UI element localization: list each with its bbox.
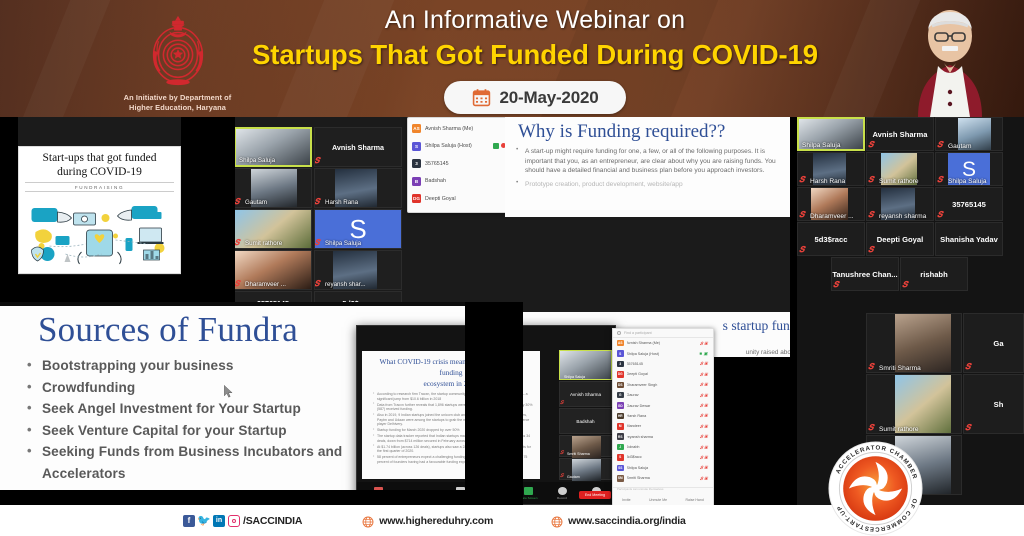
participant-name: Shilpa Saluja (Host) xyxy=(627,352,697,356)
mute-icon: 𝑺 xyxy=(560,400,563,406)
participant-name: Mandeer xyxy=(627,424,697,428)
record-icon xyxy=(558,487,567,495)
linkedin-icon[interactable]: in xyxy=(213,515,225,527)
screen-edge-filler xyxy=(0,275,234,302)
participant-name: 35765145 xyxy=(627,362,697,366)
gallery-tile-tanushree[interactable]: Tanushree Chan... 𝑺 xyxy=(831,257,899,291)
thumb-tile-label: Dharamveer ... xyxy=(245,281,286,288)
gallery-tile-label: Deepti Goyal xyxy=(877,235,923,244)
mute-icon: 𝑺 xyxy=(937,140,942,150)
participant-name: Avnish Sharma (Me) xyxy=(627,341,697,345)
inner-participant-row[interactable]: DG Deepti Goyal 𝑺▣ xyxy=(613,369,713,379)
participant-name: Badshah xyxy=(425,178,506,184)
inner-tile-gautam[interactable]: Gautam 𝑺 xyxy=(559,458,612,480)
gallery-tile-harsh-rana[interactable]: Harsh Rana 𝑺 xyxy=(797,152,865,186)
gallery-tile-dharamveer[interactable]: Dharamveer ... 𝑺 xyxy=(797,187,865,221)
gallery-tile-label: Sh xyxy=(994,400,1004,409)
header-title-block: An Informative Webinar on Startups That … xyxy=(250,6,820,114)
screen-edge-filler xyxy=(465,302,523,505)
gallery-tile-shilpa-2[interactable]: Sh 𝑺 xyxy=(963,374,1024,434)
haryana-emblem-block: An Initiative by Department of Higher Ed… xyxy=(105,12,250,112)
gallery-tile-label: Smriti Sharma xyxy=(879,365,921,372)
thumb-tile-label: Shilpa Saluja xyxy=(325,240,361,247)
avatar: S xyxy=(617,454,624,461)
gallery-tile-label: Sumit rathore xyxy=(879,426,919,433)
mute-icon: 𝑺 xyxy=(868,140,873,150)
webinar-subtitle: An Informative Webinar on xyxy=(250,6,820,35)
mute-icon: 𝑺 xyxy=(314,238,319,248)
inner-participants-panel[interactable]: Find a participant AS Avnish Sharma (Me)… xyxy=(612,328,714,505)
thumb-tile-label: Gautam xyxy=(245,199,267,206)
inner-panel-footer: Invite Unmute Me Raise Hand xyxy=(613,487,713,505)
avatar: SM xyxy=(617,475,624,482)
gallery-tile-label: rishabh xyxy=(920,270,947,279)
mute-icon: 𝑺 xyxy=(937,210,942,220)
avatar: GD xyxy=(617,402,624,409)
avatar: AS xyxy=(617,340,624,347)
raise-hand-button[interactable]: Raise Hand xyxy=(685,498,703,502)
website-url-2: www.saccindia.org/india xyxy=(568,515,686,527)
gallery-tile-5d3racc[interactable]: 5d3$racc 𝑺 xyxy=(797,222,865,256)
social-handle: /SACCINDIA xyxy=(243,515,302,527)
inner-tile-avnish-sharma[interactable]: Avnish Sharma 𝑺 xyxy=(559,381,612,407)
website-url-1: www.highereduhry.com xyxy=(379,515,493,527)
gallery-tile-label: Shanisha Yadav xyxy=(940,235,998,244)
gallery-tile-label: Sumit rathore xyxy=(879,178,919,185)
mute-icon: 𝑺 xyxy=(965,362,970,372)
thumb-tile-shilpa-saluja[interactable]: Shilpa Saluja xyxy=(234,127,312,167)
participant-name: Shilpa Saluja xyxy=(627,466,697,470)
slide-startups-subtitle: FUNDRAISING xyxy=(25,182,174,192)
mic-video-off-icons: 𝑺▣ xyxy=(700,455,709,460)
mouse-cursor-icon xyxy=(224,385,233,398)
inner-participant-row[interactable]: M Mandeer 𝑺▣ xyxy=(613,421,713,431)
avatar: G xyxy=(617,392,624,399)
globe-icon xyxy=(551,515,563,527)
mute-icon: 𝑺 xyxy=(833,280,838,290)
mute-icon: 𝑺 xyxy=(314,156,319,166)
participant-name: reyansh sharma xyxy=(627,435,697,439)
thumb-tile-dharamveer[interactable]: Dharamveer ... 𝑺 xyxy=(234,250,312,290)
gallery-tile-label: 35765145 xyxy=(952,200,986,209)
gallery-tile-gautam[interactable]: Gautam 𝑺 xyxy=(935,117,1003,151)
webinar-promo-screenshot: An Initiative by Department of Higher Ed… xyxy=(0,0,1024,536)
thumb-tile-reyansh-sharma[interactable]: reyansh shar... 𝑺 xyxy=(314,250,402,290)
haryana-government-emblem-icon xyxy=(139,12,217,90)
website-link-saccindia[interactable]: www.saccindia.org/india xyxy=(551,515,686,527)
slide-startups-funded: Start-ups that got funded during COVID-1… xyxy=(18,146,181,274)
thumb-tile-harsh-rana[interactable]: Harsh Rana 𝑺 xyxy=(314,168,402,208)
mic-video-off-icons: 𝑺▣ xyxy=(700,424,709,429)
thumb-tile-sumit-rathore[interactable]: Sumit rathore 𝑺 xyxy=(234,209,312,249)
avatar: DS xyxy=(617,382,624,389)
thumb-tile-label: Sumit rathore xyxy=(245,240,282,247)
inner-tile-shilpa-saluja[interactable]: Shilpa Saluja xyxy=(559,350,612,380)
mute-icon: 𝑺 xyxy=(314,279,319,289)
mute-icon: 𝑺 xyxy=(868,245,873,255)
gallery-tile-avnish-sharma[interactable]: Avnish Sharma 𝑺 xyxy=(866,117,934,151)
inner-participant-row[interactable]: S Shilpa Saluja (Host) ■▣ xyxy=(613,348,713,358)
gallery-tile-smriti-sharma[interactable]: Smriti Sharma 𝑺 xyxy=(866,313,962,373)
gallery-tile-label: Ga xyxy=(993,339,1003,348)
participants-popup[interactable]: AS Avnish Sharma (Me) S Shilpa Saluja (H… xyxy=(407,117,511,213)
instagram-icon[interactable] xyxy=(228,515,240,527)
mute-icon: 𝑺 xyxy=(314,197,319,207)
mute-icon: 𝑺 xyxy=(868,362,873,372)
invite-button[interactable]: Invite xyxy=(622,498,630,502)
participant-name: Deepti Goyal xyxy=(425,196,506,202)
inner-tile-label: Gautam xyxy=(567,475,580,479)
webinar-date-pill: 20-May-2020 xyxy=(444,81,626,114)
mute-icon: 𝑺 xyxy=(902,280,907,290)
inner-tile-label: Shilpa Saluja xyxy=(564,375,585,379)
mute-icon: 𝑺 xyxy=(937,175,942,185)
slide-why-title: Why is Funding required?? xyxy=(505,117,790,143)
calendar-icon xyxy=(472,88,491,107)
avatar: DG xyxy=(617,371,624,378)
mute-icon: 𝑺 xyxy=(868,210,873,220)
fundraising-illustration xyxy=(19,194,180,266)
mute-icon: 𝑺 xyxy=(799,175,804,185)
gallery-tile-35765145[interactable]: 35765145 𝑺 xyxy=(935,187,1003,221)
mic-video-off-icons: 𝑺▣ xyxy=(700,434,709,439)
minister-portrait xyxy=(894,0,1006,117)
gallery-tile-deepti-goyal[interactable]: Deepti Goyal 𝑺 xyxy=(866,222,934,256)
inner-toolbar-record[interactable]: Record xyxy=(545,487,579,500)
inner-tile-label: Smriti Sharma xyxy=(567,452,590,456)
inner-end-meeting-button[interactable]: End Meeting xyxy=(579,491,611,499)
webinar-title: Startups That Got Funded During COVID-19 xyxy=(250,39,820,71)
slide-why-body-faded: Prototype creation, product development,… xyxy=(505,176,790,190)
gallery-tile-label: Shilpa Saluja xyxy=(802,142,841,149)
inner-participant-row[interactable]: HR Harsh Rana 𝑺▣ xyxy=(613,411,713,421)
avatar: HR xyxy=(617,413,624,420)
inner-participant-row[interactable]: RS reyansh sharma 𝑺▣ xyxy=(613,432,713,442)
thumb-tile-shilpa-saluja-initial[interactable]: S Shilpa Saluja 𝑺 xyxy=(314,209,402,249)
inner-participant-rail: Shilpa Saluja Avnish Sharma 𝑺 Badshah Sm… xyxy=(559,350,612,480)
globe-icon xyxy=(362,515,374,527)
thumb-tile-label: Avnish Sharma xyxy=(332,143,384,152)
participant-row[interactable]: AS Avnish Sharma (Me) xyxy=(408,120,510,138)
screen-edge-filler xyxy=(714,357,797,505)
avatar: SS xyxy=(617,465,624,472)
search-placeholder: Find a participant xyxy=(624,331,652,335)
inner-tile-label: Avnish Sharma xyxy=(570,392,601,397)
mic-video-off-icons: 𝑺▣ xyxy=(700,403,709,408)
mic-video-off-icons: 𝑺▣ xyxy=(700,413,709,418)
social-links[interactable]: f 🐦 in /SACCINDIA xyxy=(183,515,302,527)
share-screen-indicator-icon xyxy=(493,143,499,149)
header-banner: An Initiative by Department of Higher Ed… xyxy=(0,0,1024,117)
avatar: M xyxy=(617,423,624,430)
participant-name: Deepti Goyal xyxy=(627,372,697,376)
screen-edge-filler xyxy=(790,117,797,505)
twitter-icon[interactable]: 🐦 xyxy=(198,515,210,527)
website-link-highereduhry[interactable]: www.highereduhry.com xyxy=(362,515,493,527)
gallery-tile-sumit-rathore-2[interactable]: Sumit rathore 𝑺 xyxy=(866,374,962,434)
mic-video-off-icons: 𝑺▣ xyxy=(700,476,709,481)
participant-row[interactable]: 3 35765145 xyxy=(408,155,510,173)
gallery-tile-label: Gautam xyxy=(948,143,971,150)
participant-row[interactable]: B Badshah xyxy=(408,173,510,191)
mute-icon: 𝑺 xyxy=(868,423,873,433)
mute-icon: 𝑺 xyxy=(560,473,563,479)
share-screen-icon xyxy=(524,487,533,495)
gallery-tile-label: 5d3$racc xyxy=(815,235,848,244)
participant-name: Gaurav Dewar xyxy=(627,404,697,408)
gallery-tile-reyansh-sharma[interactable]: reyansh sharma 𝑺 xyxy=(866,187,934,221)
participant-name: 35765145 xyxy=(425,161,506,167)
webinar-date: 20-May-2020 xyxy=(500,88,599,108)
avatar: AS xyxy=(412,124,421,133)
mic-video-off-icons: 𝑺▣ xyxy=(700,382,709,387)
avatar: 3 xyxy=(412,159,421,168)
gallery-tile-shilpa-saluja-initial[interactable]: S Shilpa Saluja 𝑺 xyxy=(935,152,1003,186)
participant-name: 5d3$racc xyxy=(627,455,697,459)
gallery-tile-label: reyansh sharma xyxy=(879,213,926,220)
inner-participant-row[interactable]: SM Smriti Sharma 𝑺▣ xyxy=(613,473,713,483)
avatar: J xyxy=(617,444,624,451)
emblem-caption: An Initiative by Department of Higher Ed… xyxy=(105,93,250,112)
mic-video-off-icons: 𝑺▣ xyxy=(700,361,709,366)
inner-participant-row[interactable]: S 5d3$racc 𝑺▣ xyxy=(613,452,713,462)
sharing-icons: ■▣ xyxy=(699,351,709,357)
unmute-me-button[interactable]: Unmute Me xyxy=(649,498,667,502)
inner-tile-label: Badshah xyxy=(576,419,594,424)
gallery-tile-rishabh[interactable]: rishabh 𝑺 xyxy=(900,257,968,291)
inner-participant-row[interactable]: 3 35765145 𝑺▣ xyxy=(613,359,713,369)
participant-name: Avnish Sharma (Me) xyxy=(425,126,506,132)
inner-participant-row[interactable]: J Jolnabh 𝑺▣ xyxy=(613,442,713,452)
participant-name: Gaurav xyxy=(627,393,697,397)
mute-icon: 𝑺 xyxy=(799,210,804,220)
thumb-tile-avnish-sharma[interactable]: Avnish Sharma 𝑺 xyxy=(314,127,402,167)
inner-participant-search[interactable]: Find a participant xyxy=(613,329,713,338)
gallery-tile-label: Tanushree Chan... xyxy=(832,270,897,279)
participant-name: Smriti Sharma xyxy=(627,476,697,480)
gallery-tile-label: Shilpa Saluja xyxy=(948,178,987,185)
mute-icon: 𝑺 xyxy=(799,245,804,255)
avatar: S xyxy=(412,142,421,151)
inner-participant-row[interactable]: DS Dharamveer Singh 𝑺▣ xyxy=(613,380,713,390)
participant-name: Dharamveer Singh xyxy=(627,383,697,387)
slide-why-body: A start-up might require funding for one… xyxy=(505,143,790,176)
avatar: RS xyxy=(617,433,624,440)
participant-name: Shilpa Saluja (Host) xyxy=(425,143,489,149)
thumbnail-grid: Shilpa Saluja Avnish Sharma 𝑺 Gautam 𝑺 H… xyxy=(234,127,402,307)
mic-video-off-icons: 𝑺▣ xyxy=(700,465,709,470)
participant-row[interactable]: DG Deepti Goyal xyxy=(408,190,510,208)
avatar: B xyxy=(412,177,421,186)
mic-video-off-icons: 𝑺▣ xyxy=(700,445,709,450)
mute-icon: 𝑺 xyxy=(868,175,873,185)
gallery-tile-label: Harsh Rana xyxy=(810,178,845,185)
thumb-tile-label: Harsh Rana xyxy=(325,199,358,206)
search-icon xyxy=(617,331,621,335)
thumb-tile-label: Shilpa Saluja xyxy=(239,157,275,164)
inner-tile-smriti-sharma[interactable]: Smriti Sharma 𝑺 xyxy=(559,435,612,457)
gallery-tile-label: Avnish Sharma xyxy=(872,130,927,139)
gallery-tile-label: Dharamveer ... xyxy=(810,213,854,220)
mute-icon: 𝑺 xyxy=(965,423,970,433)
participant-name: Jolnabh xyxy=(627,445,697,449)
slide-why-funding: Why is Funding required?? A start-up mig… xyxy=(505,117,790,217)
facebook-icon[interactable]: f xyxy=(183,515,195,527)
mic-video-off-icons: 𝑺▣ xyxy=(700,372,709,377)
avatar: S xyxy=(617,350,624,357)
mic-video-off-icons: 𝑺▣ xyxy=(700,341,709,346)
thumb-tile-label: reyansh shar... xyxy=(325,281,366,288)
avatar: 3 xyxy=(617,361,624,368)
participant-name: Harsh Rana xyxy=(627,414,697,418)
gallery-tile-shilpa-saluja[interactable]: Shilpa Saluja xyxy=(797,117,865,151)
participant-row[interactable]: S Shilpa Saluja (Host) xyxy=(408,138,510,156)
gallery-tile-gautam-2[interactable]: Ga 𝑺 xyxy=(963,313,1024,373)
gallery-tile-sumit-rathore[interactable]: Sumit rathore 𝑺 xyxy=(866,152,934,186)
inner-tile-badshah[interactable]: Badshah xyxy=(559,408,612,434)
inner-participant-row[interactable]: GD Gaurav Dewar 𝑺▣ xyxy=(613,400,713,410)
slide-startups-title: Start-ups that got funded during COVID-1… xyxy=(19,147,180,180)
mic-video-off-icons: 𝑺▣ xyxy=(700,393,709,398)
gallery-tile-shanisha-yadav[interactable]: Shanisha Yadav xyxy=(935,222,1003,256)
mute-icon: 𝑺 xyxy=(560,450,563,456)
thumb-tile-gautam[interactable]: Gautam 𝑺 xyxy=(234,168,312,208)
inner-participant-row[interactable]: AS Avnish Sharma (Me) 𝑺▣ xyxy=(613,338,713,348)
banner-streak xyxy=(2,0,119,117)
inner-toolbar-label: Record xyxy=(557,496,567,500)
sacc-logo: ACCELERATOR CHAMBER OF COMMERCE START-UP xyxy=(828,441,923,536)
inner-participant-row[interactable]: SS Shilpa Saluja 𝑺▣ xyxy=(613,463,713,473)
inner-participant-row[interactable]: G Gaurav 𝑺▣ xyxy=(613,390,713,400)
avatar: DG xyxy=(412,194,421,203)
screen-edge-filler xyxy=(0,490,465,505)
